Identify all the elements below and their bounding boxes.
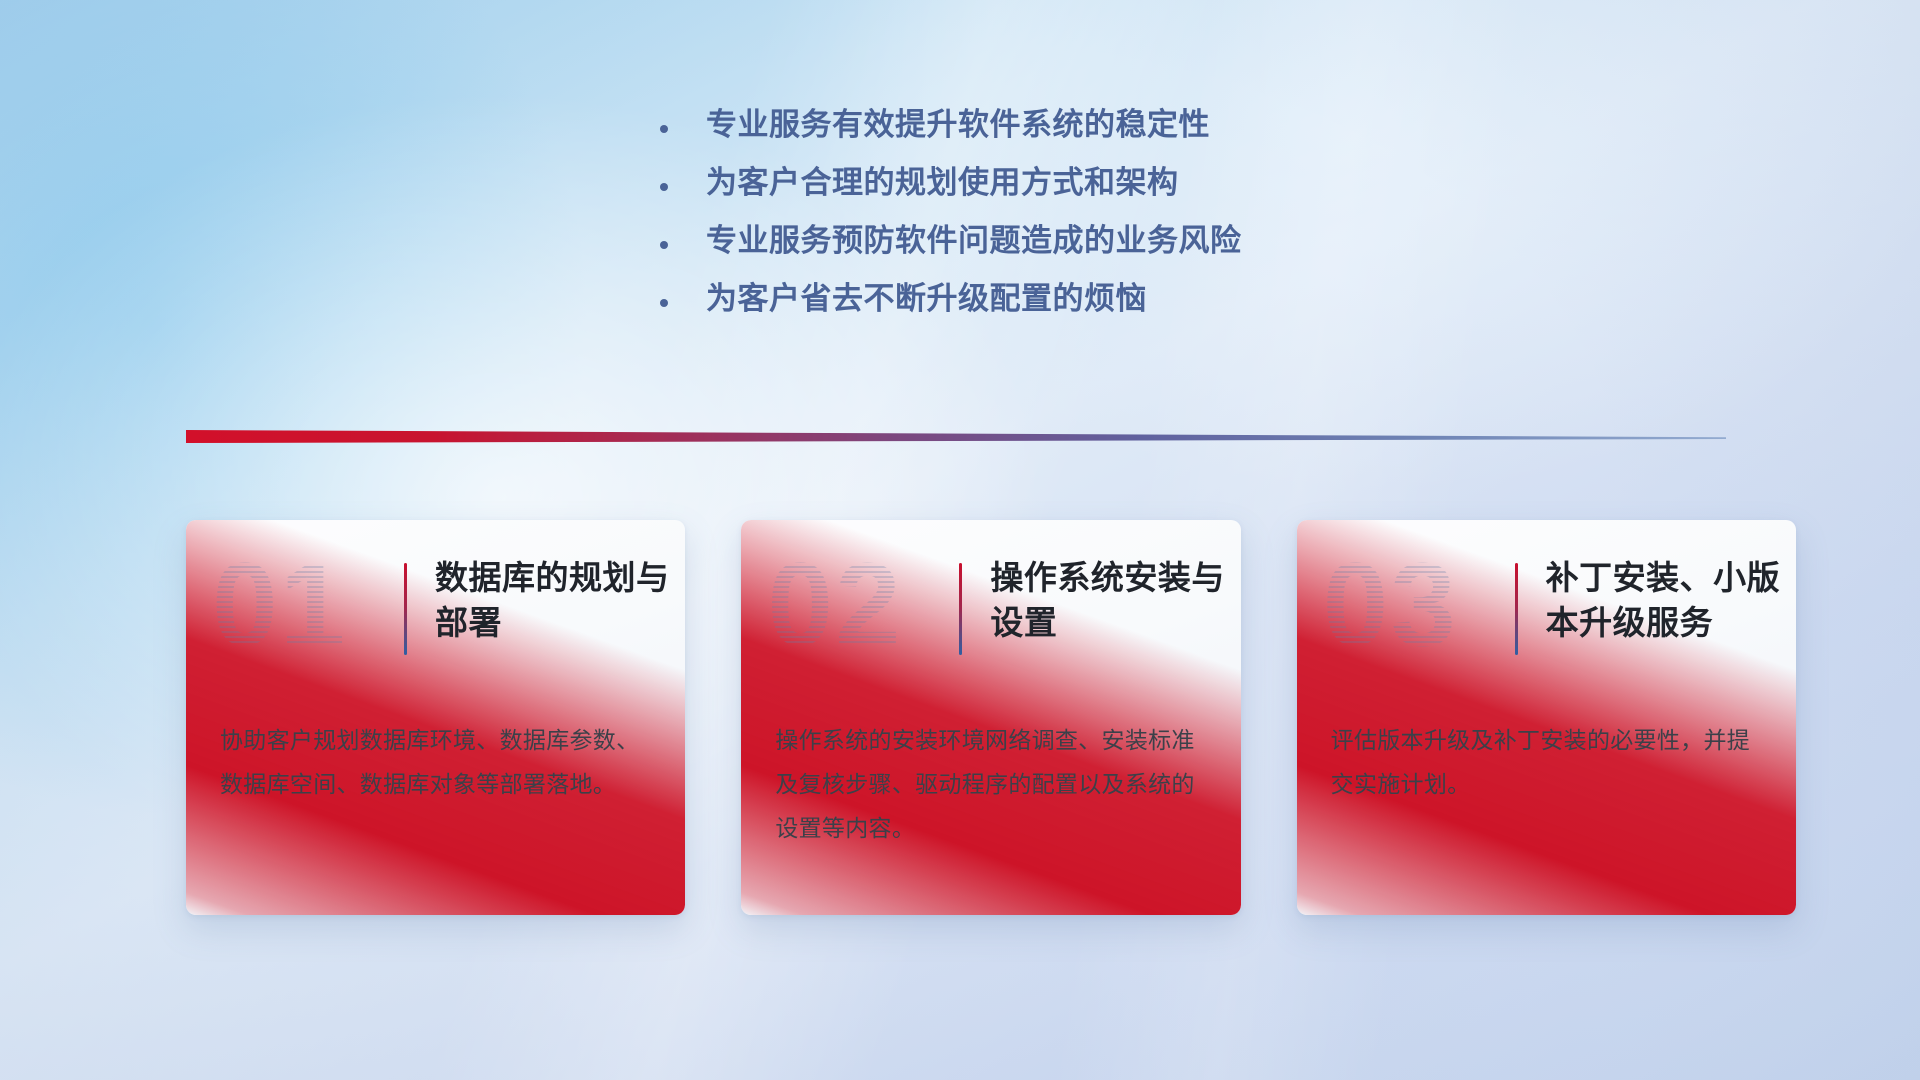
benefits-bullet-list: 专业服务有效提升软件系统的稳定性 为客户合理的规划使用方式和架构 专业服务预防软…: [660, 108, 1480, 316]
bullet-text: 为客户省去不断升级配置的烦恼: [706, 282, 1147, 316]
card-body-text: 协助客户规划数据库环境、数据库参数、数据库空间、数据库对象等部署落地。: [220, 718, 655, 806]
list-item: 为客户省去不断升级配置的烦恼: [660, 282, 1480, 316]
service-card-02[interactable]: 02 操作系统安装与设置 操作系统的安装环境网络调查、安装标准及复核步骤、驱动程…: [741, 520, 1240, 915]
bullet-text: 专业服务有效提升软件系统的稳定性: [706, 108, 1210, 142]
section-divider: [186, 424, 1726, 450]
card-body-text: 操作系统的安装环境网络调查、安装标准及复核步骤、驱动程序的配置以及系统的设置等内…: [775, 718, 1210, 850]
card-header: 补丁安装、小版本升级服务: [1515, 556, 1796, 655]
card-title: 补丁安装、小版本升级服务: [1546, 556, 1796, 646]
card-header: 操作系统安装与设置: [959, 556, 1240, 655]
card-accent-bar: [959, 563, 962, 655]
card-accent-bar: [1515, 563, 1518, 655]
bullet-dot-icon: [660, 125, 668, 133]
slide-canvas: 专业服务有效提升软件系统的稳定性 为客户合理的规划使用方式和架构 专业服务预防软…: [0, 0, 1920, 1080]
bullet-text: 专业服务预防软件问题造成的业务风险: [706, 224, 1242, 258]
card-body-text: 评估版本升级及补丁安装的必要性，并提交实施计划。: [1331, 718, 1766, 806]
bullet-dot-icon: [660, 299, 668, 307]
card-title: 数据库的规划与部署: [435, 556, 685, 646]
bullet-dot-icon: [660, 241, 668, 249]
list-item: 专业服务预防软件问题造成的业务风险: [660, 224, 1480, 258]
card-title: 操作系统安装与设置: [990, 556, 1240, 646]
card-header: 数据库的规划与部署: [404, 556, 685, 655]
card-number: 03: [1323, 546, 1458, 664]
list-item: 专业服务有效提升软件系统的稳定性: [660, 108, 1480, 142]
card-accent-bar: [404, 563, 407, 655]
card-number: 02: [767, 546, 902, 664]
service-card-row: 01 数据库的规划与部署 协助客户规划数据库环境、数据库参数、数据库空间、数据库…: [186, 520, 1796, 915]
list-item: 为客户合理的规划使用方式和架构: [660, 166, 1480, 200]
service-card-01[interactable]: 01 数据库的规划与部署 协助客户规划数据库环境、数据库参数、数据库空间、数据库…: [186, 520, 685, 915]
bullet-dot-icon: [660, 183, 668, 191]
card-number: 01: [212, 546, 347, 664]
bullet-text: 为客户合理的规划使用方式和架构: [706, 166, 1179, 200]
service-card-03[interactable]: 03 补丁安装、小版本升级服务 评估版本升级及补丁安装的必要性，并提交实施计划。: [1297, 520, 1796, 915]
